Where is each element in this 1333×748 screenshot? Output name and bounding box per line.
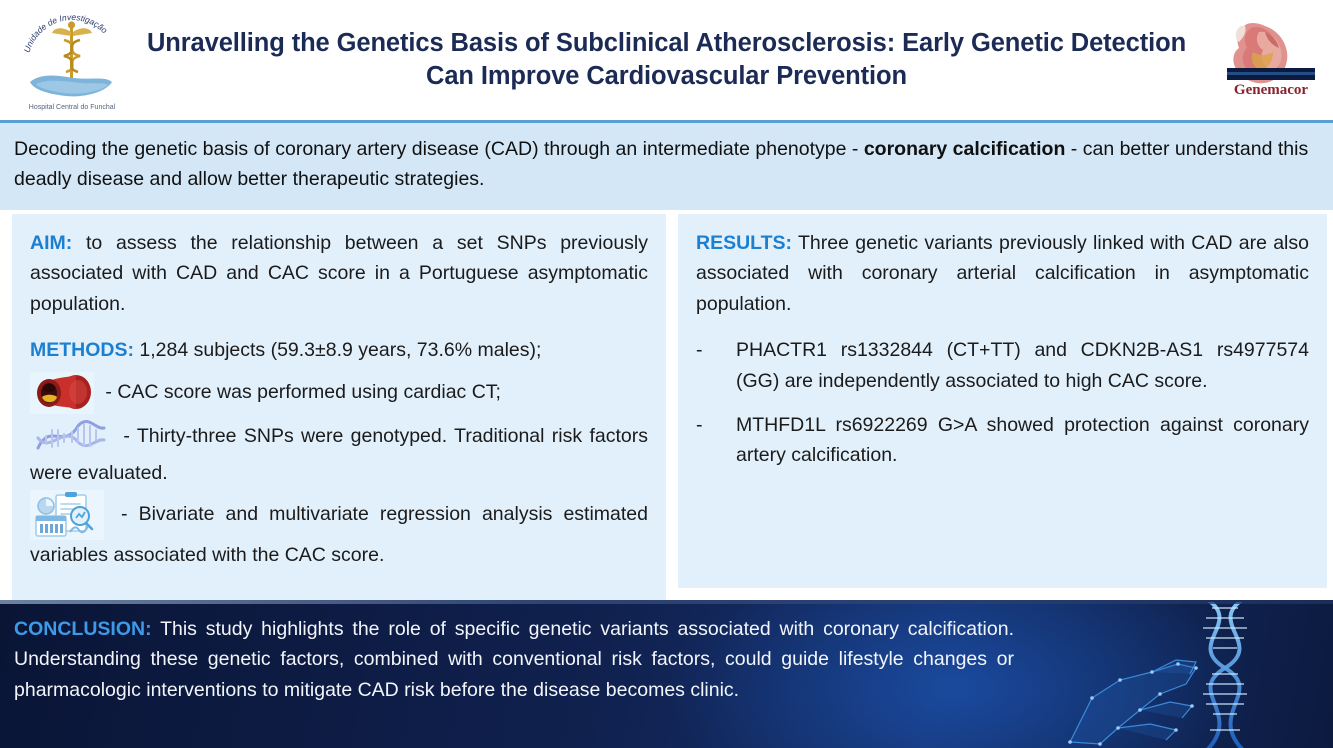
heart-logo: Genemacor (1201, 8, 1321, 112)
dna-helix-icon (30, 416, 110, 458)
intro-text-part1: Decoding the genetic basis of coronary a… (14, 138, 864, 160)
hospital-logo: Unidade de Investigação Hospital Central… (12, 6, 132, 114)
methods-item-regression-text: - Bivariate and multivariate regression … (30, 503, 648, 566)
page-title: Unravelling the Genetics Basis of Subcli… (146, 27, 1187, 93)
aim-label: AIM: (30, 232, 72, 254)
data-analysis-icon (30, 490, 104, 540)
result-bullet-2-marker: - (696, 410, 736, 471)
panels-container: AIM: to assess the relationship between … (0, 212, 1333, 600)
methods-text: 1,284 subjects (59.3±8.9 years, 73.6% ma… (134, 339, 541, 361)
methods-label: METHODS: (30, 339, 134, 361)
conclusion-label: CONCLUSION: (14, 618, 152, 640)
methods-item-snps-text: - Thirty-three SNPs were genotyped. Trad… (30, 425, 648, 484)
methods-item-regression: - Bivariate and multivariate regression … (30, 490, 648, 570)
results-panel: RESULTS: Three genetic variants previous… (678, 214, 1327, 588)
intro-banner: Decoding the genetic basis of coronary a… (0, 120, 1333, 210)
caduceus-island-logo: Unidade de Investigação Hospital Central… (12, 6, 132, 114)
methods-item-cac-text: - CAC score was performed using cardiac … (100, 381, 501, 403)
results-label: RESULTS: (696, 232, 792, 254)
artery-plaque-icon (30, 372, 94, 414)
aim-methods-panel: AIM: to assess the relationship between … (12, 214, 666, 600)
hospital-logo-caption: Hospital Central do Funchal (29, 104, 116, 111)
intro-emphasis: coronary calcification (864, 138, 1066, 160)
result-bullet-1-text: PHACTR1 rs1332844 (CT+TT) and CDKN2B-AS1… (736, 335, 1309, 396)
poster-header: Unidade de Investigação Hospital Central… (0, 0, 1333, 120)
aim-paragraph: AIM: to assess the relationship between … (30, 228, 648, 319)
results-paragraph: RESULTS: Three genetic variants previous… (696, 228, 1309, 319)
result-bullet-1: - PHACTR1 rs1332844 (CT+TT) and CDKN2B-A… (696, 335, 1309, 396)
genemacor-wordmark: Genemacor (1234, 82, 1308, 98)
methods-paragraph: METHODS: 1,284 subjects (59.3±8.9 years,… (30, 335, 648, 365)
intro-text: Decoding the genetic basis of coronary a… (14, 135, 1319, 194)
methods-item-cac: - CAC score was performed using cardiac … (30, 372, 648, 414)
title-container: Unravelling the Genetics Basis of Subcli… (132, 27, 1201, 93)
conclusion-section: CONCLUSION: This study highlights the ro… (0, 600, 1333, 748)
methods-item-snps: - Thirty-three SNPs were genotyped. Trad… (30, 416, 648, 488)
result-bullet-2-text: MTHFD1L rs6922269 G>A showed protection … (736, 410, 1309, 471)
conclusion-body: This study highlights the role of specif… (14, 618, 1014, 701)
result-bullet-2: - MTHFD1L rs6922269 G>A showed protectio… (696, 410, 1309, 471)
aim-text: to assess the relationship between a set… (30, 232, 648, 315)
dna-helix-hand-artwork (1000, 602, 1333, 748)
conclusion-text: CONCLUSION: This study highlights the ro… (14, 614, 1014, 705)
conclusion-top-divider (0, 600, 1333, 604)
genemacor-logo: Genemacor (1201, 8, 1321, 112)
result-bullet-1-marker: - (696, 335, 736, 396)
